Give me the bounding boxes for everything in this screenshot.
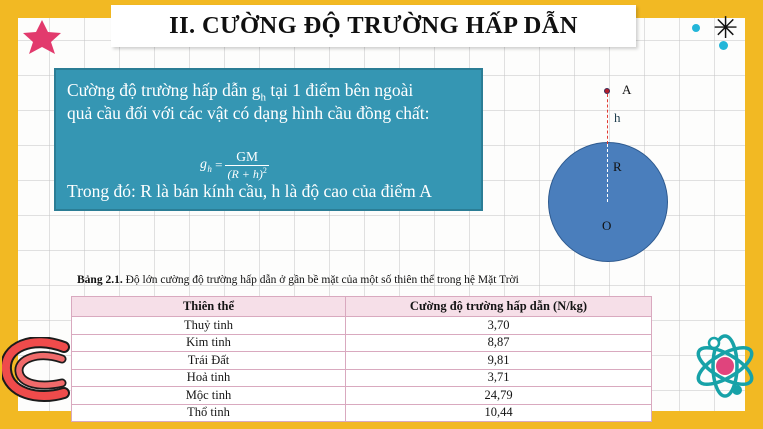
cell-body: Trái Đất <box>72 352 346 370</box>
height-dashed-line <box>607 94 608 144</box>
table-row: Thổ tinh 10,44 <box>72 404 652 422</box>
column-header-body: Thiên thể <box>72 297 346 317</box>
center-label: O <box>602 218 611 234</box>
cell-value: 8,87 <box>346 334 652 352</box>
cell-value: 9,81 <box>346 352 652 370</box>
table-row: Hoả tinh 3,71 <box>72 369 652 387</box>
statement-line-3: Trong đó: R là bán kính cầu, h là độ cao… <box>67 180 432 203</box>
radius-label: R <box>613 159 622 175</box>
formula-lhs-subscript: h <box>207 164 212 174</box>
point-a-label: A <box>622 82 631 98</box>
column-header-value: Cường độ trường hấp dẫn (N/kg) <box>346 297 652 317</box>
slide-canvas: II. CƯỜNG ĐỘ TRƯỜNG HẤP DẪN Cường độ trư… <box>0 0 763 429</box>
page-title: II. CƯỜNG ĐỘ TRƯỜNG HẤP DẪN <box>169 12 578 40</box>
table-row: Mộc tinh 24,79 <box>72 387 652 405</box>
formula-denominator-exponent: 2 <box>263 166 267 175</box>
table-body: Thuỷ tinh 3,70 Kim tinh 8,87 Trái Đất 9,… <box>72 317 652 422</box>
table-row: Thuỷ tinh 3,70 <box>72 317 652 335</box>
table-row: Trái Đất 9,81 <box>72 352 652 370</box>
table-header: Thiên thể Cường độ trường hấp dẫn (N/kg) <box>72 297 652 317</box>
statement-line-1-b: tại 1 điểm bên ngoài <box>266 80 413 100</box>
cell-body: Thổ tinh <box>72 404 346 422</box>
formula-lhs: gh <box>200 157 212 174</box>
height-label: h <box>614 110 621 126</box>
statement-line-2: quả cầu đối với các vật có dạng hình cầu… <box>67 102 430 125</box>
title-banner: II. CƯỜNG ĐỘ TRƯỜNG HẤP DẪN <box>111 5 636 47</box>
sphere-gravity-diagram: A h R O <box>528 78 696 263</box>
gravity-values-table: Thiên thể Cường độ trường hấp dẫn (N/kg)… <box>71 296 652 422</box>
table-caption-text: Độ lớn cường độ trường hấp dẫn ở gần bề … <box>123 274 519 286</box>
formula-fraction: GM (R + h)2 <box>225 150 268 181</box>
statement-box: Cường độ trường hấp dẫn gh tại 1 điểm bê… <box>54 68 483 211</box>
cell-body: Kim tinh <box>72 334 346 352</box>
point-a-marker <box>604 88 610 94</box>
cell-body: Mộc tinh <box>72 387 346 405</box>
swirl-icon <box>2 337 72 408</box>
cell-value: 10,44 <box>346 404 652 422</box>
dot-icon <box>719 41 728 50</box>
radius-dashed-line <box>607 144 608 202</box>
statement-line-1-a: Cường độ trường hấp dẫn g <box>67 80 261 100</box>
gravity-field-formula: gh = GM (R + h)2 <box>200 150 269 181</box>
sparkle-icon: ✳ <box>713 14 738 44</box>
table-caption: Bảng 2.1. Độ lớn cường độ trường hấp dẫn… <box>77 274 519 286</box>
cell-value: 3,70 <box>346 317 652 335</box>
cell-body: Thuỷ tinh <box>72 317 346 335</box>
star-icon <box>22 18 62 61</box>
dot-icon <box>692 24 700 32</box>
cell-value: 3,71 <box>346 369 652 387</box>
atom-icon <box>690 330 760 407</box>
formula-numerator: GM <box>234 150 260 164</box>
formula-equals: = <box>215 157 222 173</box>
formula-denominator: (R + h)2 <box>225 167 268 181</box>
cell-value: 24,79 <box>346 387 652 405</box>
sphere-shape <box>548 142 668 262</box>
table-caption-number: Bảng 2.1. <box>77 274 123 286</box>
cell-body: Hoả tinh <box>72 369 346 387</box>
table-header-row: Thiên thể Cường độ trường hấp dẫn (N/kg) <box>72 297 652 317</box>
formula-denominator-base: (R + h) <box>227 167 262 181</box>
table-row: Kim tinh 8,87 <box>72 334 652 352</box>
